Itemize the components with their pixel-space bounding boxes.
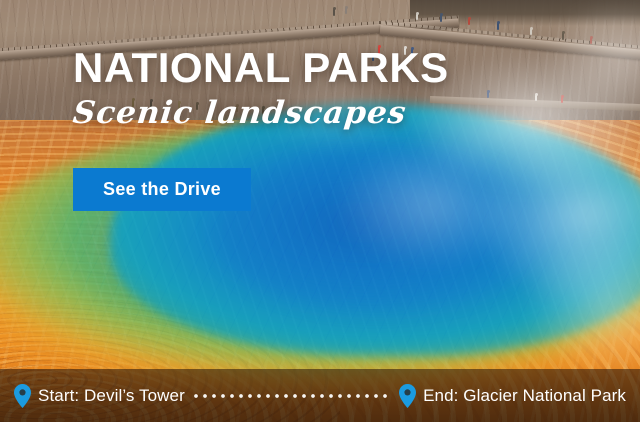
route-start-label: Start: Devil’s Tower: [38, 386, 185, 406]
see-the-drive-button[interactable]: See the Drive: [73, 168, 251, 211]
visitor-figure: [530, 29, 532, 35]
national-parks-hero-banner: NATIONAL PARKS Scenic landscapes See the…: [0, 0, 640, 422]
leader-dots: [194, 394, 390, 398]
route-end[interactable]: End: Glacier National Park: [399, 384, 640, 408]
visitor-figure: [487, 92, 489, 98]
map-pin-icon: [14, 384, 31, 408]
visitor-figure: [440, 15, 442, 22]
map-pin-icon: [399, 384, 416, 408]
visitor-figure: [562, 33, 564, 40]
route-start[interactable]: Start: Devil’s Tower: [0, 384, 185, 408]
route-leader-line: [194, 384, 390, 408]
visitor-figure: [333, 9, 335, 16]
visitor-figure: [535, 95, 537, 101]
visitor-figure: [345, 8, 347, 14]
visitor-figure: [416, 14, 418, 20]
route-bar: Start: Devil’s Tower End: Glacier Nation…: [0, 369, 640, 422]
visitor-figure: [590, 38, 592, 44]
water-surface-texture: [0, 110, 640, 380]
visitor-figure: [497, 23, 499, 30]
page-title: NATIONAL PARKS: [73, 47, 449, 89]
route-end-label: End: Glacier National Park: [423, 386, 626, 406]
page-subtitle: Scenic landscapes: [71, 96, 408, 130]
visitor-figure: [468, 19, 470, 25]
visitor-figure: [561, 97, 563, 103]
